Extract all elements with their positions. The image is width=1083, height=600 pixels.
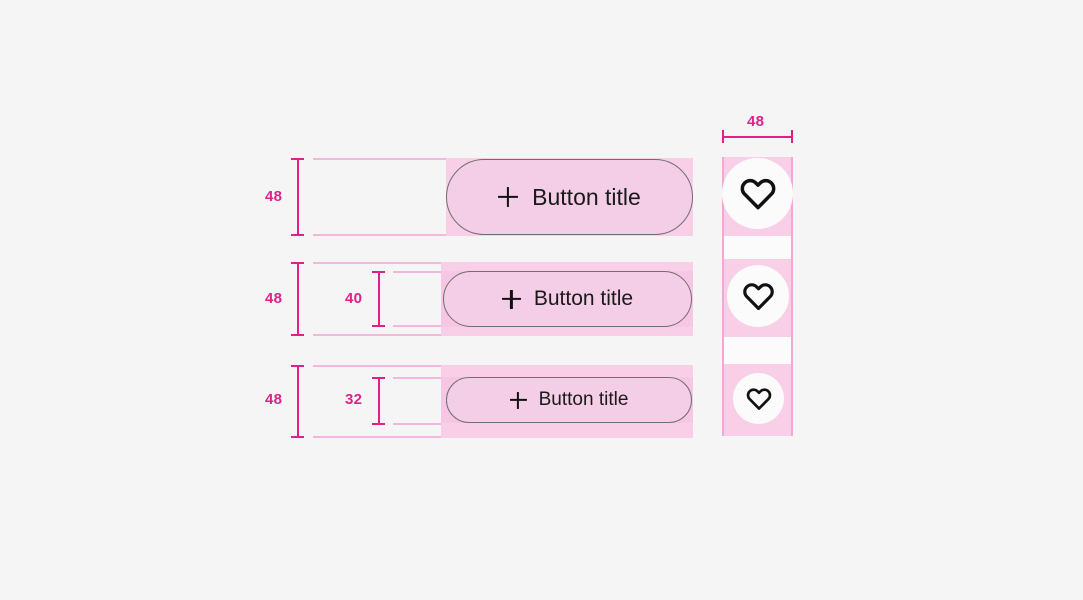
button-medium-label: Button title <box>534 287 633 311</box>
ruler-shaft <box>378 377 380 425</box>
row-medium-inner-label: 40 <box>345 291 362 306</box>
icon-button-medium[interactable] <box>727 265 789 327</box>
ruler-shaft <box>297 158 299 236</box>
icon-column-gap-2 <box>724 337 791 364</box>
ruler-shaft <box>297 365 299 438</box>
icon-column-width-ruler <box>722 130 793 143</box>
row-small-height-label: 48 <box>265 392 282 407</box>
ruler-cap-bottom <box>372 325 385 327</box>
icon-column-width-label: 48 <box>747 114 764 129</box>
button-medium[interactable]: Button title <box>443 271 692 327</box>
ruler-shaft <box>378 271 380 327</box>
ruler-cap-bottom <box>291 334 304 336</box>
icon-button-large[interactable] <box>722 158 793 229</box>
button-small-label: Button title <box>539 389 629 411</box>
row-small-inner-label: 32 <box>345 392 362 407</box>
button-large-label: Button title <box>532 184 641 211</box>
row-medium-inner-ruler <box>372 271 385 327</box>
heart-outline-icon <box>741 279 776 314</box>
plus-icon <box>510 392 527 409</box>
ruler-cap-bottom <box>291 234 304 236</box>
row-small-height-ruler <box>291 365 304 438</box>
heart-outline-icon <box>738 174 778 214</box>
design-spec-canvas: 48 Button title 48 40 <box>0 0 1083 600</box>
heart-outline-icon <box>745 385 773 413</box>
row-medium-height-ruler <box>291 262 304 336</box>
plus-icon <box>502 290 521 309</box>
icon-column-gap-1 <box>724 236 791 259</box>
icon-button-small[interactable] <box>733 373 784 424</box>
ruler-cap-bottom <box>372 423 385 425</box>
row-small-inner-ruler <box>372 377 385 425</box>
ruler-shaft <box>297 262 299 336</box>
row-large-height-label: 48 <box>265 189 282 204</box>
row-large-height-ruler <box>291 158 304 236</box>
plus-icon <box>498 187 518 207</box>
button-small[interactable]: Button title <box>446 377 692 423</box>
ruler-cap-bottom <box>291 436 304 438</box>
ruler-shaft <box>722 136 793 138</box>
button-large[interactable]: Button title <box>446 159 693 235</box>
ruler-cap-right <box>791 130 793 143</box>
row-medium-height-label: 48 <box>265 291 282 306</box>
